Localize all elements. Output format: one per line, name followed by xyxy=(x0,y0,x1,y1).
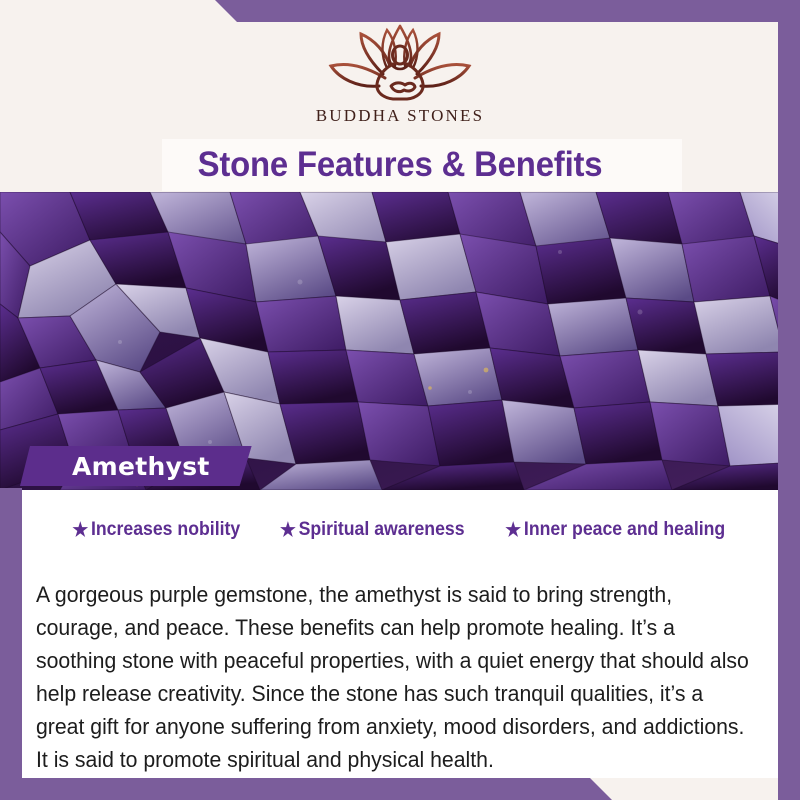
feature-item: ★ Spiritual awareness xyxy=(280,519,465,541)
page-title: Stone Features & Benefits xyxy=(24,138,776,192)
feature-list: ★ Increases nobility ★ Spiritual awarene… xyxy=(22,512,778,548)
stone-name-banner: Amethyst xyxy=(20,446,252,486)
frame-band-left xyxy=(0,488,22,800)
lotus-meditation-icon xyxy=(325,22,475,104)
star-icon: ★ xyxy=(280,521,296,540)
feature-item: ★ Inner peace and healing xyxy=(506,519,726,541)
product-info-card: BUDDHA STONES Stone Features & Benefits xyxy=(0,0,800,800)
star-icon: ★ xyxy=(506,521,522,540)
brand-name: BUDDHA STONES xyxy=(316,106,485,126)
feature-label: Inner peace and healing xyxy=(524,519,725,541)
stone-name: Amethyst xyxy=(72,452,210,481)
gemstone-image: Amethyst xyxy=(0,192,800,490)
frame-band-right xyxy=(778,0,800,800)
feature-label: Spiritual awareness xyxy=(298,519,464,541)
card-header: BUDDHA STONES Stone Features & Benefits xyxy=(0,0,800,192)
amethyst-crystal-cluster-art xyxy=(0,192,800,490)
brand-logo: BUDDHA STONES xyxy=(0,22,800,126)
feature-item: ★ Increases nobility xyxy=(73,519,241,541)
frame-band-bottom xyxy=(0,778,800,800)
stone-description: A gorgeous purple gemstone, the amethyst… xyxy=(36,578,750,776)
feature-label: Increases nobility xyxy=(91,519,240,541)
star-icon: ★ xyxy=(73,521,89,540)
